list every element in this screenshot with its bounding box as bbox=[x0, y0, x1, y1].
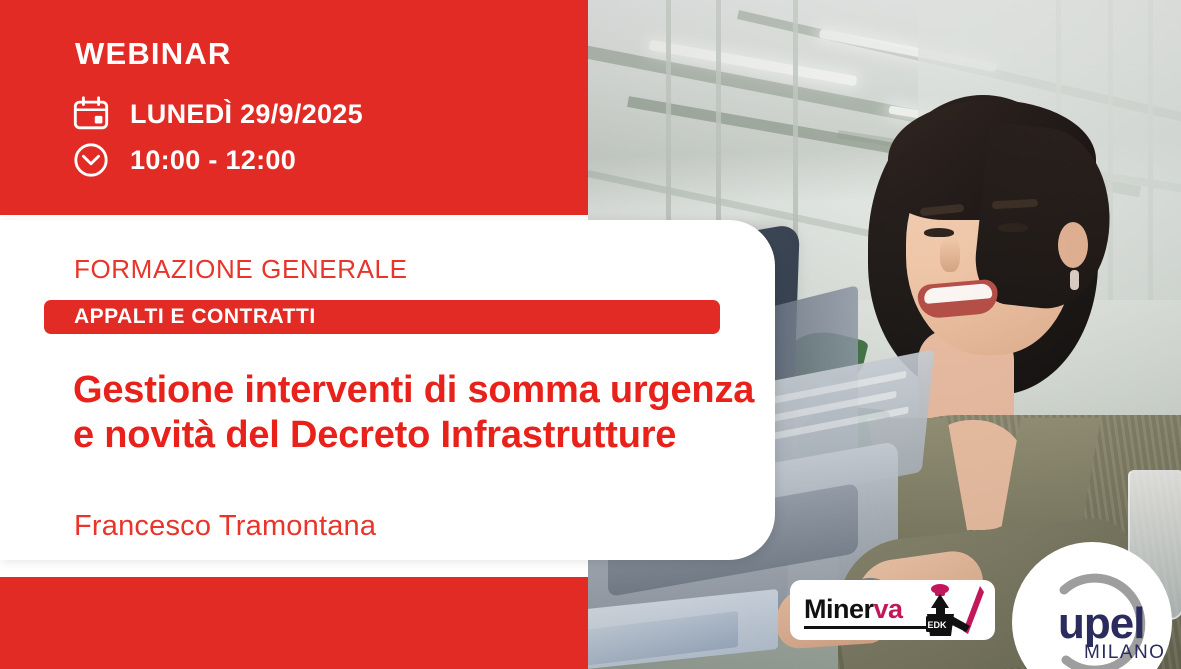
category-label: FORMAZIONE GENERALE bbox=[74, 254, 408, 285]
speaker-name: Francesco Tramontana bbox=[74, 510, 376, 543]
webinar-kicker: WEBINAR bbox=[75, 36, 232, 72]
title-line-1: Gestione interventi di somma urgenza bbox=[73, 368, 763, 413]
page-title: Gestione interventi di somma urgenza e n… bbox=[73, 368, 763, 458]
clock-icon bbox=[72, 141, 110, 179]
webinar-promo-banner: WEBINAR LUNEDÌ 29/9/2025 10:00 - 12:00 F… bbox=[0, 0, 1181, 669]
topic-badge-label: APPALTI E CONTRATTI bbox=[74, 305, 316, 329]
time-text: 10:00 - 12:00 bbox=[130, 145, 296, 176]
upel-wordmark: upel bbox=[1058, 599, 1144, 648]
minerva-shield-text: EDK bbox=[927, 620, 947, 630]
content-card: FORMAZIONE GENERALE APPALTI E CONTRATTI … bbox=[0, 220, 775, 560]
header-panel: WEBINAR LUNEDÌ 29/9/2025 10:00 - 12:00 bbox=[0, 0, 588, 215]
topic-badge: APPALTI E CONTRATTI bbox=[44, 300, 720, 334]
upel-logo: upel MILANO bbox=[1012, 542, 1172, 669]
calendar-icon bbox=[72, 95, 110, 133]
upel-subtitle: MILANO bbox=[1084, 642, 1165, 663]
time-row: 10:00 - 12:00 bbox=[72, 141, 296, 179]
minerva-word-dark: Miner bbox=[804, 594, 874, 624]
date-row: LUNEDÌ 29/9/2025 bbox=[72, 95, 363, 133]
title-line-2: e novità del Decreto Infrastrutture bbox=[73, 413, 763, 458]
minerva-warrior-icon: EDK bbox=[910, 582, 992, 638]
minerva-word-accent: va bbox=[874, 594, 903, 624]
upel-logo-svg: upel MILANO bbox=[1012, 542, 1172, 669]
minerva-wordmark: Minerva bbox=[804, 594, 903, 625]
date-text: LUNEDÌ 29/9/2025 bbox=[130, 99, 363, 130]
bottom-red-band bbox=[0, 577, 588, 669]
minerva-logo: Minerva EDK bbox=[790, 580, 995, 640]
